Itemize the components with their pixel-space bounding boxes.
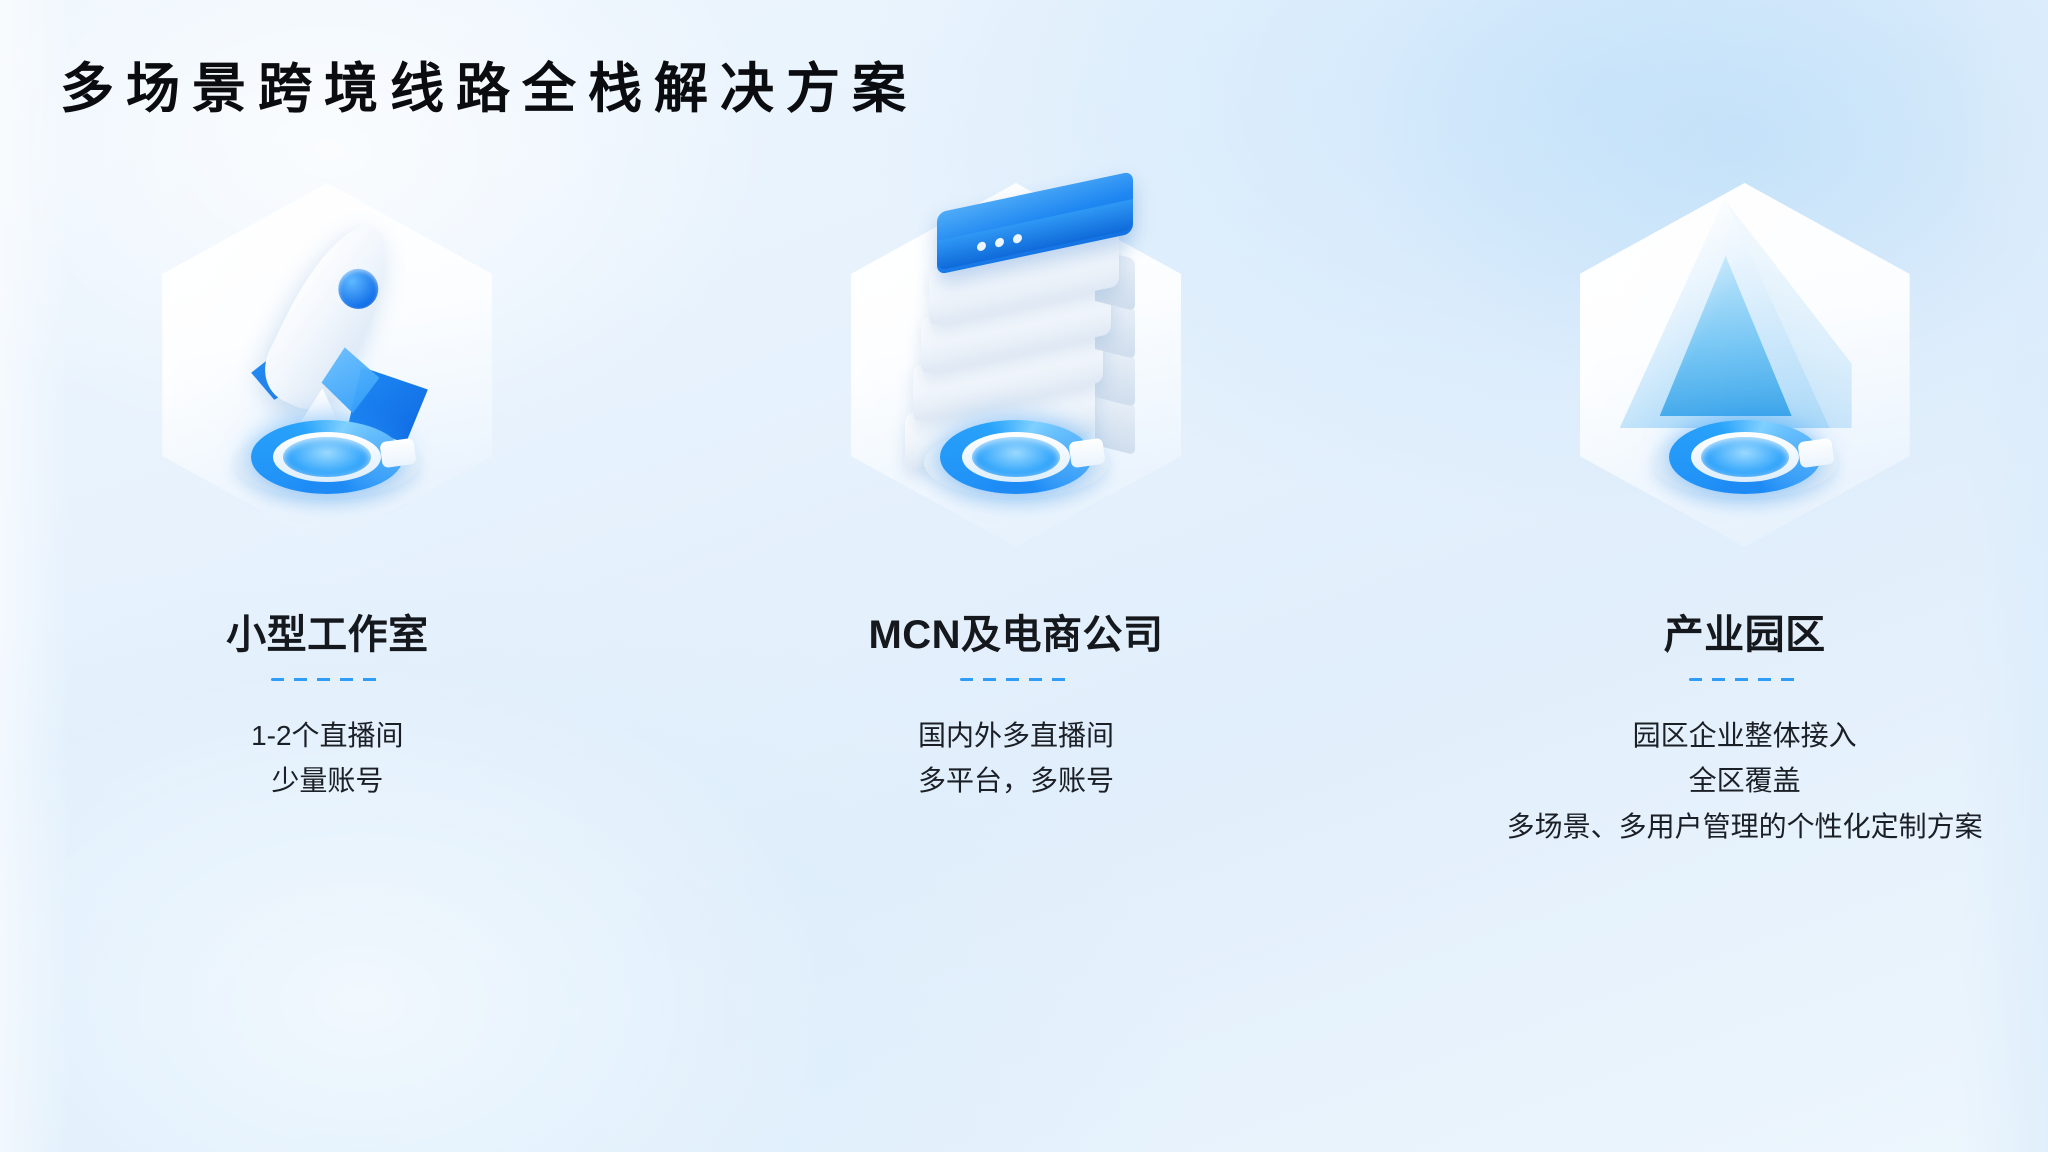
rocket-illustration — [132, 150, 522, 580]
card-description-line: 多平台，多账号 — [918, 758, 1114, 803]
card-industrial-park[interactable]: 产业园区 园区企业整体接入 全区覆盖 多场景、多用户管理的个性化定制方案 — [1365, 150, 2048, 1090]
card-mcn-ecommerce[interactable]: MCN及电商公司 国内外多直播间 多平台，多账号 — [683, 150, 1366, 1090]
card-divider — [271, 678, 383, 681]
card-description-line: 园区企业整体接入 — [1507, 713, 1983, 758]
pyramid-illustration — [1550, 150, 1940, 580]
card-divider — [960, 678, 1072, 681]
card-description: 国内外多直播间 多平台，多账号 — [918, 713, 1114, 804]
card-description-line: 国内外多直播间 — [918, 713, 1114, 758]
card-description-line: 多场景、多用户管理的个性化定制方案 — [1507, 804, 1983, 849]
glow-ring-base — [916, 410, 1116, 502]
card-description: 园区企业整体接入 全区覆盖 多场景、多用户管理的个性化定制方案 — [1507, 713, 1983, 849]
card-description-line: 全区覆盖 — [1507, 758, 1983, 803]
card-description: 1-2个直播间 少量账号 — [251, 713, 403, 804]
glow-ring-base — [227, 410, 427, 502]
card-description-line: 少量账号 — [251, 758, 403, 803]
glow-ring-base — [1645, 410, 1845, 502]
server-stack-illustration — [821, 150, 1211, 580]
server-stack-icon — [821, 150, 1211, 580]
page-title: 多场景跨境线路全栈解决方案 — [60, 57, 918, 122]
card-small-studio[interactable]: 小型工作室 1-2个直播间 少量账号 — [0, 150, 683, 1090]
card-title: 小型工作室 — [226, 602, 429, 660]
card-title: MCN及电商公司 — [868, 602, 1163, 660]
rocket-icon — [132, 150, 522, 580]
pyramid-icon — [1550, 150, 1940, 580]
solution-cards: 小型工作室 1-2个直播间 少量账号 — [0, 150, 2048, 1090]
card-title: 产业园区 — [1664, 602, 1826, 660]
card-description-line: 1-2个直播间 — [251, 713, 403, 758]
card-divider — [1689, 678, 1801, 681]
